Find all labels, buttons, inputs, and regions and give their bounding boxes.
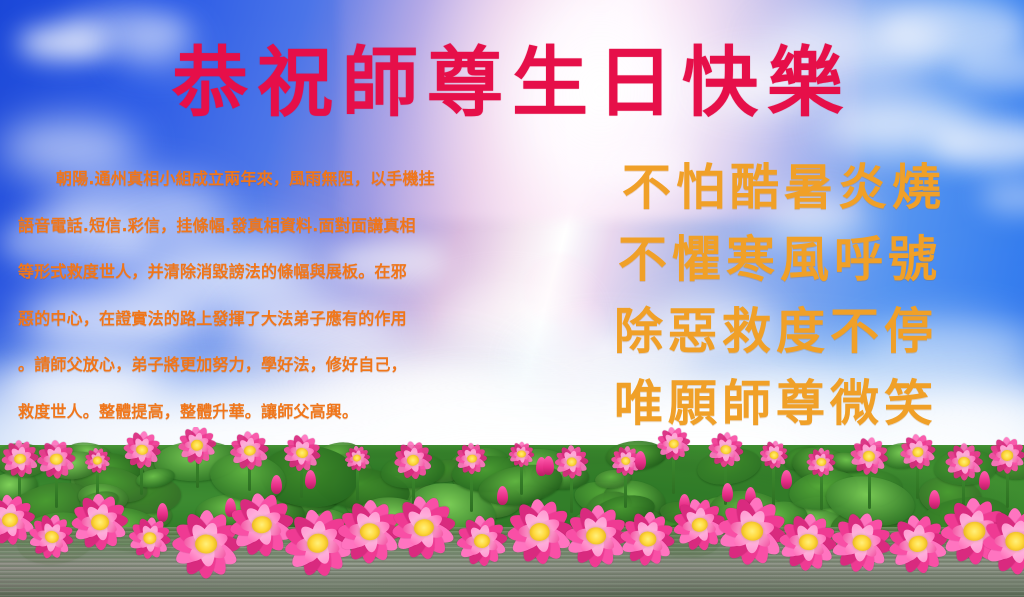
lotus-flower: [390, 437, 436, 483]
poem-line: 不怕酷暑炎燒: [600, 152, 1012, 224]
lotus-center: [195, 535, 217, 554]
lotus-flower: [806, 447, 838, 479]
message-line: 語音電話.短信.彩信，挂條幅.發真相資料.面對面講真相: [18, 203, 528, 250]
water-ripple: [0, 593, 1024, 596]
lotus-flower: [227, 428, 272, 473]
message-line: 朝陽.通州真相小組成立兩年來，風雨無阻，以手機挂: [18, 156, 528, 203]
lotus-flower: [176, 427, 219, 467]
lotus-flower: [988, 435, 1024, 475]
lotus-flower: [944, 442, 984, 482]
lotus-flower: [278, 429, 324, 475]
lotus-center: [1002, 450, 1014, 460]
lotus-bud: [979, 471, 990, 490]
lotus-bud: [781, 470, 792, 489]
lotus-flower: [508, 440, 536, 468]
poem: 不怕酷暑炎燒不懼寒風呼號除惡救度不停唯願師尊微笑: [600, 152, 1012, 440]
message-line: 。請師父放心，弟子將更加努力，學好法，修好自己，: [18, 342, 528, 389]
lotus-flower: [342, 444, 372, 474]
message-line: 等形式救度世人，并清除消毀謗法的條幅與展板。在邪: [18, 249, 528, 296]
lotus-center: [566, 457, 577, 467]
lotus-flower: [979, 504, 1024, 578]
lotus-pond: [0, 427, 1024, 597]
lotus-flower: [653, 427, 693, 464]
lotus-flower: [846, 433, 892, 479]
lotus-center: [360, 523, 381, 541]
lotus-flower: [119, 428, 164, 473]
card-title: 恭祝師尊生日快樂: [0, 40, 1024, 126]
lotus-bud: [543, 456, 554, 475]
water-ripple: [0, 580, 1024, 583]
lotus-bud: [635, 451, 646, 470]
lotus-flower: [705, 428, 747, 470]
message-line: 惡的中心，在證實法的路上發揮了大法弟子應有的作用: [18, 296, 528, 343]
lotus-flower: [82, 445, 113, 476]
water-ripple: [0, 584, 1024, 587]
lotus-center: [769, 450, 779, 459]
greeting-card: 恭祝師尊生日快樂 朝陽.通州真相小組成立兩年來，風雨無阻，以手機挂語音電話.短信…: [0, 0, 1024, 597]
lotus-flower: [454, 441, 489, 476]
poem-line: 不懼寒風呼號: [600, 224, 1012, 296]
lotus-center: [466, 454, 476, 463]
lotus-flower: [452, 511, 511, 570]
lotus-flower: [34, 437, 78, 481]
lotus-flower: [126, 514, 175, 563]
poem-line: 除惡救度不停: [600, 296, 1012, 368]
lotus-flower: [896, 430, 939, 473]
lotus-center: [91, 513, 110, 530]
water-ripple: [0, 589, 1024, 592]
greeting-message: 朝陽.通州真相小組成立兩年來，風雨無阻，以手機挂語音電話.短信.彩信，挂條幅.發…: [18, 156, 528, 435]
lotus-flower: [553, 443, 590, 480]
lotus-flower: [757, 438, 790, 471]
lotus-center: [517, 450, 525, 457]
lotus-flower: [385, 489, 462, 566]
lotus-flower: [68, 490, 132, 554]
